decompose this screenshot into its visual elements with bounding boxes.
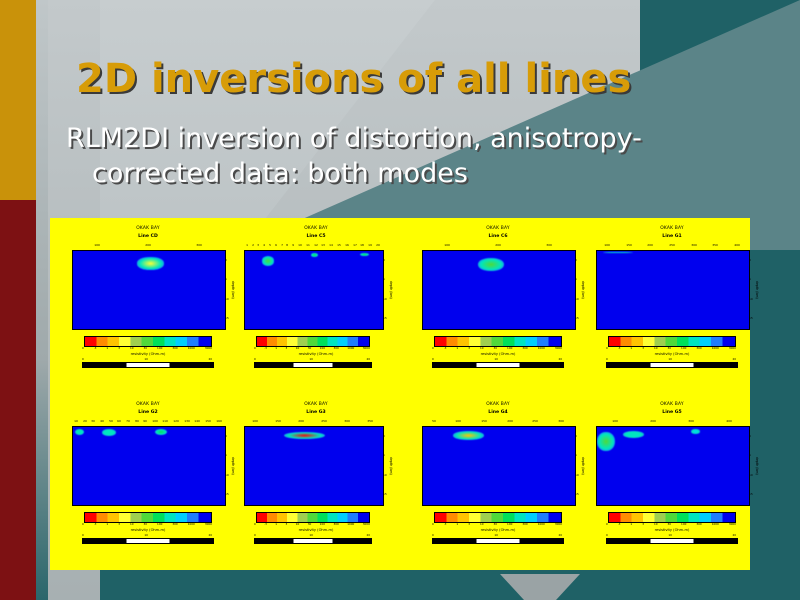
panel-line-label: Line G5 [582, 410, 762, 415]
inversion-panel: OKAK BAYLine G450100150200250300051015de… [408, 402, 588, 562]
colorbar-tick-label: 10 [480, 346, 484, 350]
conductivity-anomaly [311, 253, 318, 257]
colorbar-tick-label: 3 [642, 522, 644, 526]
panel-y-axis-title: depth (km) [231, 268, 235, 312]
resistivity-section-plot [422, 250, 576, 330]
conductivity-anomaly [102, 429, 116, 436]
colorbar-tick-label: 100 [320, 346, 325, 350]
y-tick-label: 15 [749, 316, 753, 320]
colorbar-tick-label: .3 [444, 522, 447, 526]
scalebar-tick-label: 10 [494, 357, 498, 361]
colorbar-tick-label: 10 [480, 522, 484, 526]
x-tick-label: 9 [292, 243, 294, 247]
x-tick-label: 8 [286, 243, 288, 247]
x-tick-label: 400 [726, 419, 732, 423]
inversion-panel: OKAK BAYLine C51234567891011121314151617… [236, 226, 396, 386]
x-tick-label: 20 [83, 419, 87, 423]
y-tick-label: 10 [383, 297, 387, 301]
panel-y-axis-title: depth (km) [389, 268, 393, 312]
scalebar-tick-label: 20 [732, 357, 736, 361]
scalebar-tick-labels: 01020 [254, 533, 370, 537]
x-tick-label: 100 [612, 419, 618, 423]
x-tick-label: 350 [368, 419, 374, 423]
scalebar-tick-labels: 01020 [254, 357, 370, 361]
conductivity-anomaly [597, 432, 615, 452]
y-tick-label: 15 [575, 492, 579, 496]
conductivity-anomaly [284, 432, 325, 440]
scalebar-tick-label: 10 [309, 533, 313, 537]
scalebar-tick-label: 0 [82, 357, 84, 361]
x-tick-label: 15 [337, 243, 341, 247]
colorbar-tick-labels: 0.313103010030010003000 [606, 346, 736, 350]
scalebar-tick-labels: 01020 [82, 357, 212, 361]
scalebar-tick-labels: 01020 [606, 357, 736, 361]
scalebar-tick-label: 20 [558, 357, 562, 361]
scalebar-tick-label: 0 [606, 533, 608, 537]
scalebar-tick-label: 0 [82, 533, 84, 537]
x-tick-label: 11 [306, 243, 310, 247]
colorbar-tick-labels: 0.313103010030010003000 [254, 522, 370, 526]
scalebar-tick-labels: 01020 [432, 357, 562, 361]
scalebar-tick-label: 20 [366, 357, 370, 361]
x-tick-label: 17 [353, 243, 357, 247]
panel-y-axis-title: depth (km) [755, 268, 759, 312]
scalebar-tick-label: 20 [732, 533, 736, 537]
y-tick-label: 0 [749, 434, 753, 438]
colorbar-tick-label: 1000 [347, 346, 354, 350]
colorbar-tick-label: 300 [172, 522, 177, 526]
x-tick-label: 40 [100, 419, 104, 423]
colorbar-tick-label: 1 [106, 522, 108, 526]
x-tick-label: 50 [109, 419, 113, 423]
panel-survey-title: OKAK BAY [58, 402, 238, 407]
colorbar-tick-label: 3000 [729, 346, 736, 350]
colorbar-tick-label: 300 [522, 522, 527, 526]
colorbar-tick-label: 10 [654, 346, 658, 350]
x-tick-label: 200 [145, 243, 151, 247]
distance-scalebar [254, 538, 372, 544]
conductivity-anomaly [262, 256, 274, 265]
y-tick-label: 10 [575, 297, 579, 301]
y-tick-label: 5 [749, 277, 753, 281]
x-tick-label: 7 [281, 243, 283, 247]
x-tick-label: 350 [713, 243, 719, 247]
colorbar-tick-label: 30 [308, 346, 312, 350]
colorbar-tick-label: 100 [681, 346, 686, 350]
scalebar-tick-label: 10 [668, 533, 672, 537]
x-tick-label: 16 [345, 243, 349, 247]
colorbar-tick-label: 10 [296, 522, 300, 526]
inversion-panel: OKAK BAYLine G11001502002503003504000510… [582, 226, 762, 386]
x-tick-label: 200 [495, 243, 501, 247]
left-accent-bar-dark-red [0, 200, 36, 600]
x-tick-label: 13 [322, 243, 326, 247]
colorbar-title: resistivity (Ohm-m) [582, 528, 762, 532]
y-tick-label: 15 [225, 316, 229, 320]
colorbar-tick-label: 3 [118, 522, 120, 526]
x-tick-label: 300 [688, 419, 694, 423]
colorbar-title: resistivity (Ohm-m) [236, 352, 396, 356]
colorbar-tick-label: 300 [333, 346, 338, 350]
y-tick-label: 0 [575, 434, 579, 438]
y-tick-label: 0 [383, 434, 387, 438]
colorbar-tick-label: 3 [468, 346, 470, 350]
y-tick-label: 0 [225, 258, 229, 262]
colorbar-tick-label: 100 [157, 522, 162, 526]
y-tick-label: 10 [383, 473, 387, 477]
colorbar-tick-label: 1000 [712, 346, 719, 350]
panel-survey-title: OKAK BAY [582, 226, 762, 231]
figure-panel: OKAK BAYLine CD100200300051015depth (km)… [50, 218, 750, 570]
panel-survey-title: OKAK BAY [408, 226, 588, 231]
colorbar-tick-label: .3 [444, 346, 447, 350]
scalebar-tick-labels: 01020 [606, 533, 736, 537]
conductivity-anomaly [453, 431, 483, 440]
scalebar-tick-labels: 01020 [82, 533, 212, 537]
resistivity-section-plot [244, 426, 384, 506]
colorbar-tick-labels: 0.313103010030010003000 [254, 346, 370, 350]
panel-line-label: Line G3 [236, 410, 396, 415]
colorbar-tick-label: 100 [681, 522, 686, 526]
x-tick-label: 60 [117, 419, 121, 423]
x-tick-label: 30 [92, 419, 96, 423]
y-tick-label: 0 [749, 258, 753, 262]
conductivity-anomaly [478, 258, 504, 271]
panel-line-label: Line CD [58, 234, 238, 239]
x-tick-label: 10 [74, 419, 78, 423]
scalebar-tick-label: 0 [432, 533, 434, 537]
x-tick-label: 300 [691, 243, 697, 247]
colorbar-tick-label: 100 [507, 522, 512, 526]
scalebar-tick-label: 10 [668, 357, 672, 361]
colorbar-tick-label: .3 [94, 346, 97, 350]
colorbar-tick-label: 10 [130, 346, 134, 350]
x-tick-label: 12 [314, 243, 318, 247]
x-tick-label: 20 [376, 243, 380, 247]
x-tick-label: 200 [650, 419, 656, 423]
panel-y-axis-ticks: 051015 [383, 426, 387, 504]
scalebar-tick-label: 0 [432, 357, 434, 361]
resistivity-section-plot [72, 426, 226, 506]
scalebar-tick-label: 0 [606, 357, 608, 361]
x-tick-label: 100 [604, 243, 610, 247]
x-tick-label: 6 [275, 243, 277, 247]
colorbar-title: resistivity (Ohm-m) [236, 528, 396, 532]
colorbar-title: resistivity (Ohm-m) [582, 352, 762, 356]
colorbar-tick-label: 10 [130, 522, 134, 526]
x-tick-label: 80 [135, 419, 139, 423]
panel-x-axis-ticks: 100200300400 [596, 419, 748, 423]
resistivity-section-plot [596, 250, 750, 330]
panel-line-label: Line G2 [58, 410, 238, 415]
colorbar-tick-label: 3 [286, 346, 288, 350]
y-tick-label: 0 [225, 434, 229, 438]
colorbar-title: resistivity (Ohm-m) [408, 352, 588, 356]
panel-line-label: Line C5 [236, 234, 396, 239]
panel-y-axis-ticks: 051015 [575, 426, 579, 504]
colorbar-tick-label: 1 [456, 346, 458, 350]
colorbar-tick-label: 1 [106, 346, 108, 350]
y-tick-label: 5 [225, 277, 229, 281]
y-tick-label: 15 [383, 492, 387, 496]
colorbar-tick-label: 300 [522, 346, 527, 350]
y-tick-label: 5 [383, 277, 387, 281]
scalebar-tick-label: 20 [208, 533, 212, 537]
y-tick-label: 10 [575, 473, 579, 477]
colorbar-tick-label: 300 [172, 346, 177, 350]
x-tick-label: 50 [432, 419, 436, 423]
y-tick-label: 15 [383, 316, 387, 320]
y-tick-label: 15 [575, 316, 579, 320]
colorbar-tick-label: 1 [630, 346, 632, 350]
colorbar-tick-label: 3000 [555, 346, 562, 350]
inversion-panel: OKAK BAYLine G3100150200250300350051015d… [236, 402, 396, 562]
panel-y-axis-ticks: 051015 [225, 250, 229, 328]
panel-x-axis-ticks: 50100150200250300 [422, 419, 574, 423]
x-tick-label: 300 [546, 243, 552, 247]
panel-y-axis-ticks: 051015 [749, 426, 753, 504]
colorbar-tick-label: 3 [642, 346, 644, 350]
scalebar-tick-label: 0 [254, 357, 256, 361]
panel-y-axis-ticks: 051015 [575, 250, 579, 328]
x-tick-label: 150 [276, 419, 282, 423]
conductivity-anomaly [603, 252, 633, 254]
panel-x-axis-ticks: 100150200250300350 [244, 419, 382, 423]
y-tick-label: 0 [575, 258, 579, 262]
colorbar-tick-label: 1000 [347, 522, 354, 526]
x-tick-label: 19 [368, 243, 372, 247]
colorbar-tick-labels: 0.313103010030010003000 [82, 346, 212, 350]
x-tick-label: 1 [246, 243, 248, 247]
colorbar-tick-labels: 0.313103010030010003000 [432, 346, 562, 350]
colorbar-tick-label: 0 [254, 346, 256, 350]
panel-x-axis-ticks: 1234567891011121314151617181920 [244, 243, 382, 247]
resistivity-section-plot [244, 250, 384, 330]
panel-y-axis-ticks: 051015 [749, 250, 753, 328]
colorbar-tick-label: 1000 [538, 522, 545, 526]
colorbar-title: resistivity (Ohm-m) [408, 528, 588, 532]
scalebar-tick-label: 10 [494, 533, 498, 537]
colorbar-tick-label: 0 [432, 346, 434, 350]
x-tick-label: 90 [143, 419, 147, 423]
x-tick-label: 300 [345, 419, 351, 423]
x-tick-label: 200 [299, 419, 305, 423]
panel-y-axis-ticks: 051015 [383, 250, 387, 328]
scalebar-tick-label: 20 [558, 533, 562, 537]
colorbar-tick-label: 30 [668, 522, 672, 526]
panel-survey-title: OKAK BAY [58, 226, 238, 231]
scalebar-tick-label: 10 [144, 533, 148, 537]
distance-scalebar [606, 362, 738, 368]
distance-scalebar [254, 362, 372, 368]
colorbar-tick-label: 10 [654, 522, 658, 526]
y-tick-label: 5 [749, 453, 753, 457]
distance-scalebar [432, 538, 564, 544]
y-tick-label: 10 [749, 473, 753, 477]
x-tick-label: 150 [481, 419, 487, 423]
colorbar-tick-label: 30 [494, 346, 498, 350]
inversion-panel: OKAK BAYLine G21020304050607080901001101… [58, 402, 238, 562]
y-tick-label: 10 [225, 473, 229, 477]
panel-x-axis-ticks: 102030405060708090100110120130140150160 [72, 419, 224, 423]
colorbar-tick-label: 1 [630, 522, 632, 526]
y-tick-label: 10 [749, 297, 753, 301]
x-tick-label: 10 [298, 243, 302, 247]
colorbar-tick-label: 3000 [363, 346, 370, 350]
panel-line-label: Line C6 [408, 234, 588, 239]
y-tick-label: 10 [225, 297, 229, 301]
panel-line-label: Line G4 [408, 410, 588, 415]
colorbar-tick-label: 3000 [729, 522, 736, 526]
x-tick-label: 100 [95, 243, 101, 247]
conductivity-anomaly [155, 429, 167, 435]
colorbar-tick-label: 0 [432, 522, 434, 526]
distance-scalebar [606, 538, 738, 544]
distance-scalebar [432, 362, 564, 368]
left-accent-separator [36, 0, 48, 600]
colorbar-tick-label: 300 [696, 522, 701, 526]
y-tick-label: 0 [383, 258, 387, 262]
distance-scalebar [82, 362, 214, 368]
colorbar-tick-label: 30 [308, 522, 312, 526]
resistivity-section-plot [596, 426, 750, 506]
colorbar-tick-labels: 0.313103010030010003000 [82, 522, 212, 526]
colorbar-title: resistivity (Ohm-m) [58, 528, 238, 532]
colorbar-tick-label: 100 [157, 346, 162, 350]
panel-line-label: Line G1 [582, 234, 762, 239]
colorbar-tick-label: 30 [494, 522, 498, 526]
colorbar-tick-label: 0 [82, 522, 84, 526]
conductivity-anomaly [75, 429, 84, 435]
panel-y-axis-title: depth (km) [389, 444, 393, 488]
colorbar-tick-label: 1000 [188, 522, 195, 526]
scalebar-tick-label: 10 [309, 357, 313, 361]
subtitle-line-2: corrected data: both modes [66, 157, 726, 192]
x-tick-label: 300 [558, 419, 564, 423]
colorbar-tick-label: 10 [296, 346, 300, 350]
conductivity-anomaly [691, 429, 700, 434]
x-tick-label: 250 [533, 419, 539, 423]
distance-scalebar [82, 538, 214, 544]
x-tick-label: 250 [669, 243, 675, 247]
colorbar-tick-label: 1 [456, 522, 458, 526]
colorbar-tick-label: 1 [275, 522, 277, 526]
panel-survey-title: OKAK BAY [236, 226, 396, 231]
x-tick-label: 200 [647, 243, 653, 247]
page-title: 2D inversions of all lines [76, 56, 776, 102]
x-tick-label: 100 [445, 243, 451, 247]
colorbar-tick-label: .3 [264, 346, 267, 350]
colorbar-tick-label: 30 [668, 346, 672, 350]
conductivity-anomaly [623, 431, 644, 438]
panel-x-axis-ticks: 100150200250300350400 [596, 243, 748, 247]
inversion-panel: OKAK BAYLine G5100200300400051015depth (… [582, 402, 762, 562]
x-tick-label: 150 [205, 419, 211, 423]
panel-y-axis-title: depth (km) [231, 444, 235, 488]
x-tick-label: 200 [507, 419, 513, 423]
y-tick-label: 15 [225, 492, 229, 496]
colorbar-tick-label: 3 [286, 522, 288, 526]
x-tick-label: 100 [253, 419, 259, 423]
panel-survey-title: OKAK BAY [236, 402, 396, 407]
scalebar-tick-label: 20 [366, 533, 370, 537]
x-tick-label: 18 [361, 243, 365, 247]
x-tick-label: 160 [216, 419, 222, 423]
x-tick-label: 400 [734, 243, 740, 247]
colorbar-tick-label: 1000 [712, 522, 719, 526]
colorbar-tick-label: 0 [606, 522, 608, 526]
scalebar-tick-label: 0 [254, 533, 256, 537]
colorbar-tick-label: 0 [254, 522, 256, 526]
y-tick-label: 5 [383, 453, 387, 457]
y-tick-label: 5 [575, 277, 579, 281]
colorbar-tick-label: 3000 [363, 522, 370, 526]
panel-survey-title: OKAK BAY [582, 402, 762, 407]
x-tick-label: 3 [258, 243, 260, 247]
x-tick-label: 110 [163, 419, 169, 423]
panel-grid: OKAK BAYLine CD100200300051015depth (km)… [50, 218, 750, 570]
y-tick-label: 15 [749, 492, 753, 496]
colorbar-title: resistivity (Ohm-m) [58, 352, 238, 356]
colorbar-tick-label: 100 [320, 522, 325, 526]
subtitle-line-1: RLM2DI inversion of distortion, anisotro… [66, 123, 642, 154]
scalebar-tick-label: 10 [144, 357, 148, 361]
colorbar-tick-label: 1000 [188, 346, 195, 350]
colorbar-tick-label: 30 [144, 522, 148, 526]
colorbar-tick-label: 0 [82, 346, 84, 350]
background-teal-strip [100, 566, 800, 600]
x-tick-label: 140 [195, 419, 201, 423]
colorbar-tick-label: .3 [618, 522, 621, 526]
colorbar-tick-label: 3000 [555, 522, 562, 526]
x-tick-label: 100 [152, 419, 158, 423]
panel-survey-title: OKAK BAY [408, 402, 588, 407]
colorbar-tick-label: .3 [94, 522, 97, 526]
x-tick-label: 5 [269, 243, 271, 247]
colorbar-tick-label: 0 [606, 346, 608, 350]
x-tick-label: 4 [263, 243, 265, 247]
y-tick-label: 5 [225, 453, 229, 457]
colorbar-tick-label: .3 [618, 346, 621, 350]
conductivity-anomaly [137, 257, 164, 269]
x-tick-label: 250 [322, 419, 328, 423]
colorbar-tick-label: 300 [333, 522, 338, 526]
x-tick-label: 70 [126, 419, 130, 423]
x-tick-label: 14 [329, 243, 333, 247]
conductivity-anomaly [360, 253, 370, 256]
colorbar-tick-label: 3 [118, 346, 120, 350]
scalebar-tick-labels: 01020 [432, 533, 562, 537]
inversion-panel: OKAK BAYLine CD100200300051015depth (km)… [58, 226, 238, 386]
x-tick-label: 2 [252, 243, 254, 247]
colorbar-tick-label: 3000 [205, 346, 212, 350]
colorbar-tick-labels: 0.313103010030010003000 [606, 522, 736, 526]
y-tick-label: 5 [575, 453, 579, 457]
colorbar-tick-label: .3 [264, 522, 267, 526]
panel-x-axis-ticks: 100200300 [72, 243, 224, 247]
x-tick-label: 300 [196, 243, 202, 247]
colorbar-tick-label: 100 [507, 346, 512, 350]
panel-y-axis-title: depth (km) [755, 444, 759, 488]
x-tick-label: 100 [456, 419, 462, 423]
x-tick-label: 130 [184, 419, 190, 423]
colorbar-tick-label: 300 [696, 346, 701, 350]
x-tick-label: 150 [626, 243, 632, 247]
colorbar-tick-label: 3000 [205, 522, 212, 526]
resistivity-section-plot [422, 426, 576, 506]
slide: 2D inversions of all lines RLM2DI invers… [0, 0, 800, 600]
resistivity-section-plot [72, 250, 226, 330]
